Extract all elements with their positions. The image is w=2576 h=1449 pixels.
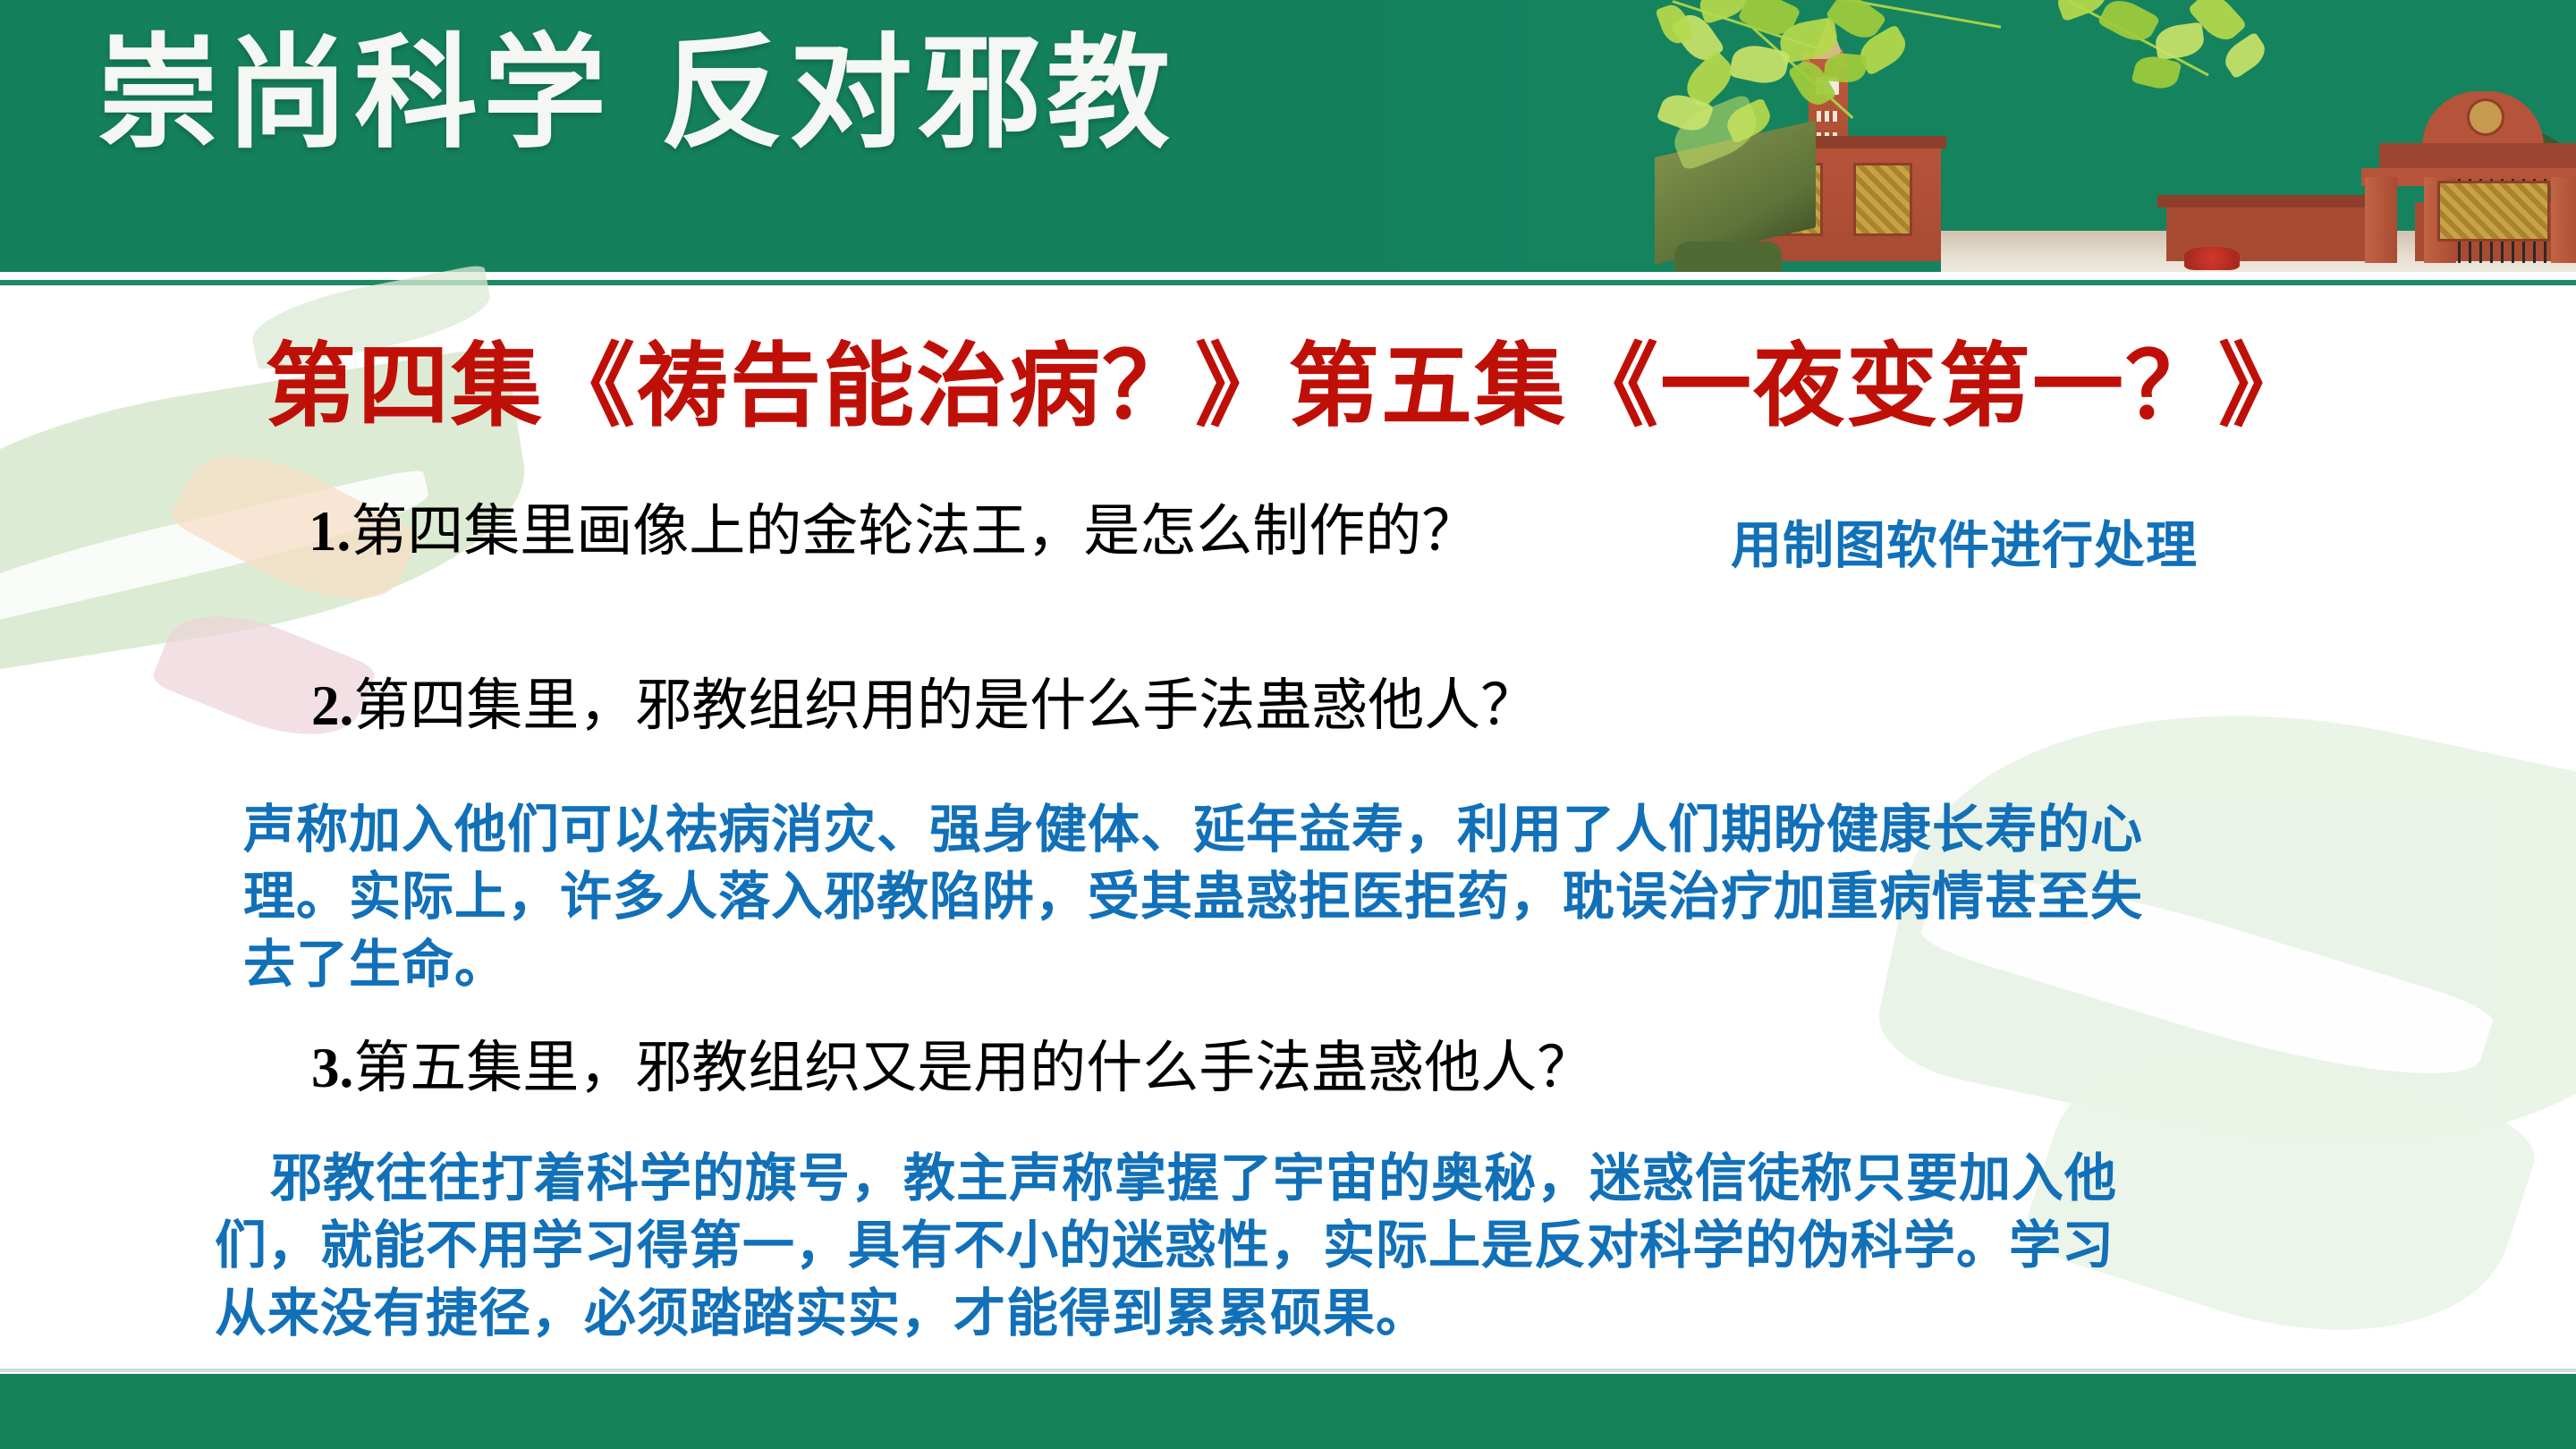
flower-bed: [2184, 247, 2240, 270]
question-3-number: 3.: [311, 1037, 353, 1099]
answer-3-line-1: 邪教往往打着科学的旗号，教主声称掌握了宇宙的奥秘，迷惑信徒称只要加入他: [215, 1145, 2576, 1212]
question-2: 2.第四集里，邪教组织用的是什么手法蛊惑他人？: [0, 675, 2576, 736]
question-2-text: 第四集里，邪教组织用的是什么手法蛊惑他人？: [353, 673, 1537, 738]
question-row-1: 1.第四集里画像上的金轮法王，是怎么制作的？ 用制图软件进行处理: [0, 501, 2576, 562]
footer-bar: [0, 1374, 2576, 1449]
divider-white-gap: [0, 272, 2576, 280]
inline-answer-1: 用制图软件进行处理: [1731, 504, 2198, 578]
answer-block-2: 声称加入他们可以祛病消灾、强身健体、延年益寿，利用了人们期盼健康长寿的心 理。实…: [0, 796, 2576, 998]
campus-gate-photo: [1521, 0, 2576, 272]
wall-lattice-panel: [1853, 163, 1912, 236]
question-row-3: 3.第五集里，邪教组织又是用的什么手法蛊惑他人？: [0, 1038, 2576, 1098]
slide-title: 第四集《祷告能治病？》第五集《一夜变第一？》: [0, 313, 2576, 445]
answer-2-line-2: 理。实际上，许多人落入邪教陷阱，受其蛊惑拒医拒药，耽误治疗加重病情甚至失: [243, 863, 2576, 930]
gate-emblem-icon: [2467, 98, 2504, 136]
question-1-text: 第四集里画像上的金轮法王，是怎么制作的？: [351, 498, 1478, 563]
tower-spire-left: [1800, 48, 1812, 68]
answer-block-3: 邪教往往打着科学的旗号，教主声称掌握了宇宙的奥秘，迷惑信徒称只要加入他 们，就能…: [0, 1145, 2576, 1347]
answer-3-line-3: 从来没有捷径，必须踏踏实实，才能得到累累硕果。: [215, 1280, 2576, 1347]
gate-pillar: [2365, 177, 2397, 263]
question-3: 3.第五集里，邪教组织又是用的什么手法蛊惑他人？: [0, 1038, 2576, 1098]
clock-face-icon: [1816, 77, 1839, 95]
wall-lattice-panel: [2437, 181, 2550, 241]
banner-title: 崇尚科学 反对邪教: [97, 32, 1175, 156]
header-banner: 崇尚科学 反对邪教: [0, 0, 2576, 272]
question-3-text: 第五集里，邪教组织又是用的什么手法蛊惑他人？: [353, 1035, 1593, 1100]
side-building-cap: [2157, 195, 2379, 208]
divider-green-line: [0, 280, 2576, 285]
question-2-number: 2.: [311, 674, 353, 737]
hedge-bush: [1674, 241, 1782, 272]
answer-2-line-3: 去了生命。: [243, 931, 2576, 998]
question-1-number: 1.: [309, 500, 351, 563]
answer-3-line-2: 们，就能不用学习得第一，具有不小的迷惑性，实际上是反对科学的伪科学。学习: [215, 1212, 2576, 1279]
footer-divider: [0, 1368, 2576, 1372]
tower-window-upper: [1817, 111, 1838, 122]
answer-2-line-1: 声称加入他们可以祛病消灾、强身健体、延年益寿，利用了人们期盼健康长寿的心: [243, 796, 2576, 863]
slide-root: 崇尚科学 反对邪教 第四集《祷告能治病？》第五集《一夜变第一？》 1.第四集里画…: [0, 0, 2576, 1449]
question-row-2: 2.第四集里，邪教组织用的是什么手法蛊惑他人？: [0, 675, 2576, 736]
gate-pillar: [2551, 177, 2576, 263]
tower-spire-right: [1835, 48, 1848, 68]
